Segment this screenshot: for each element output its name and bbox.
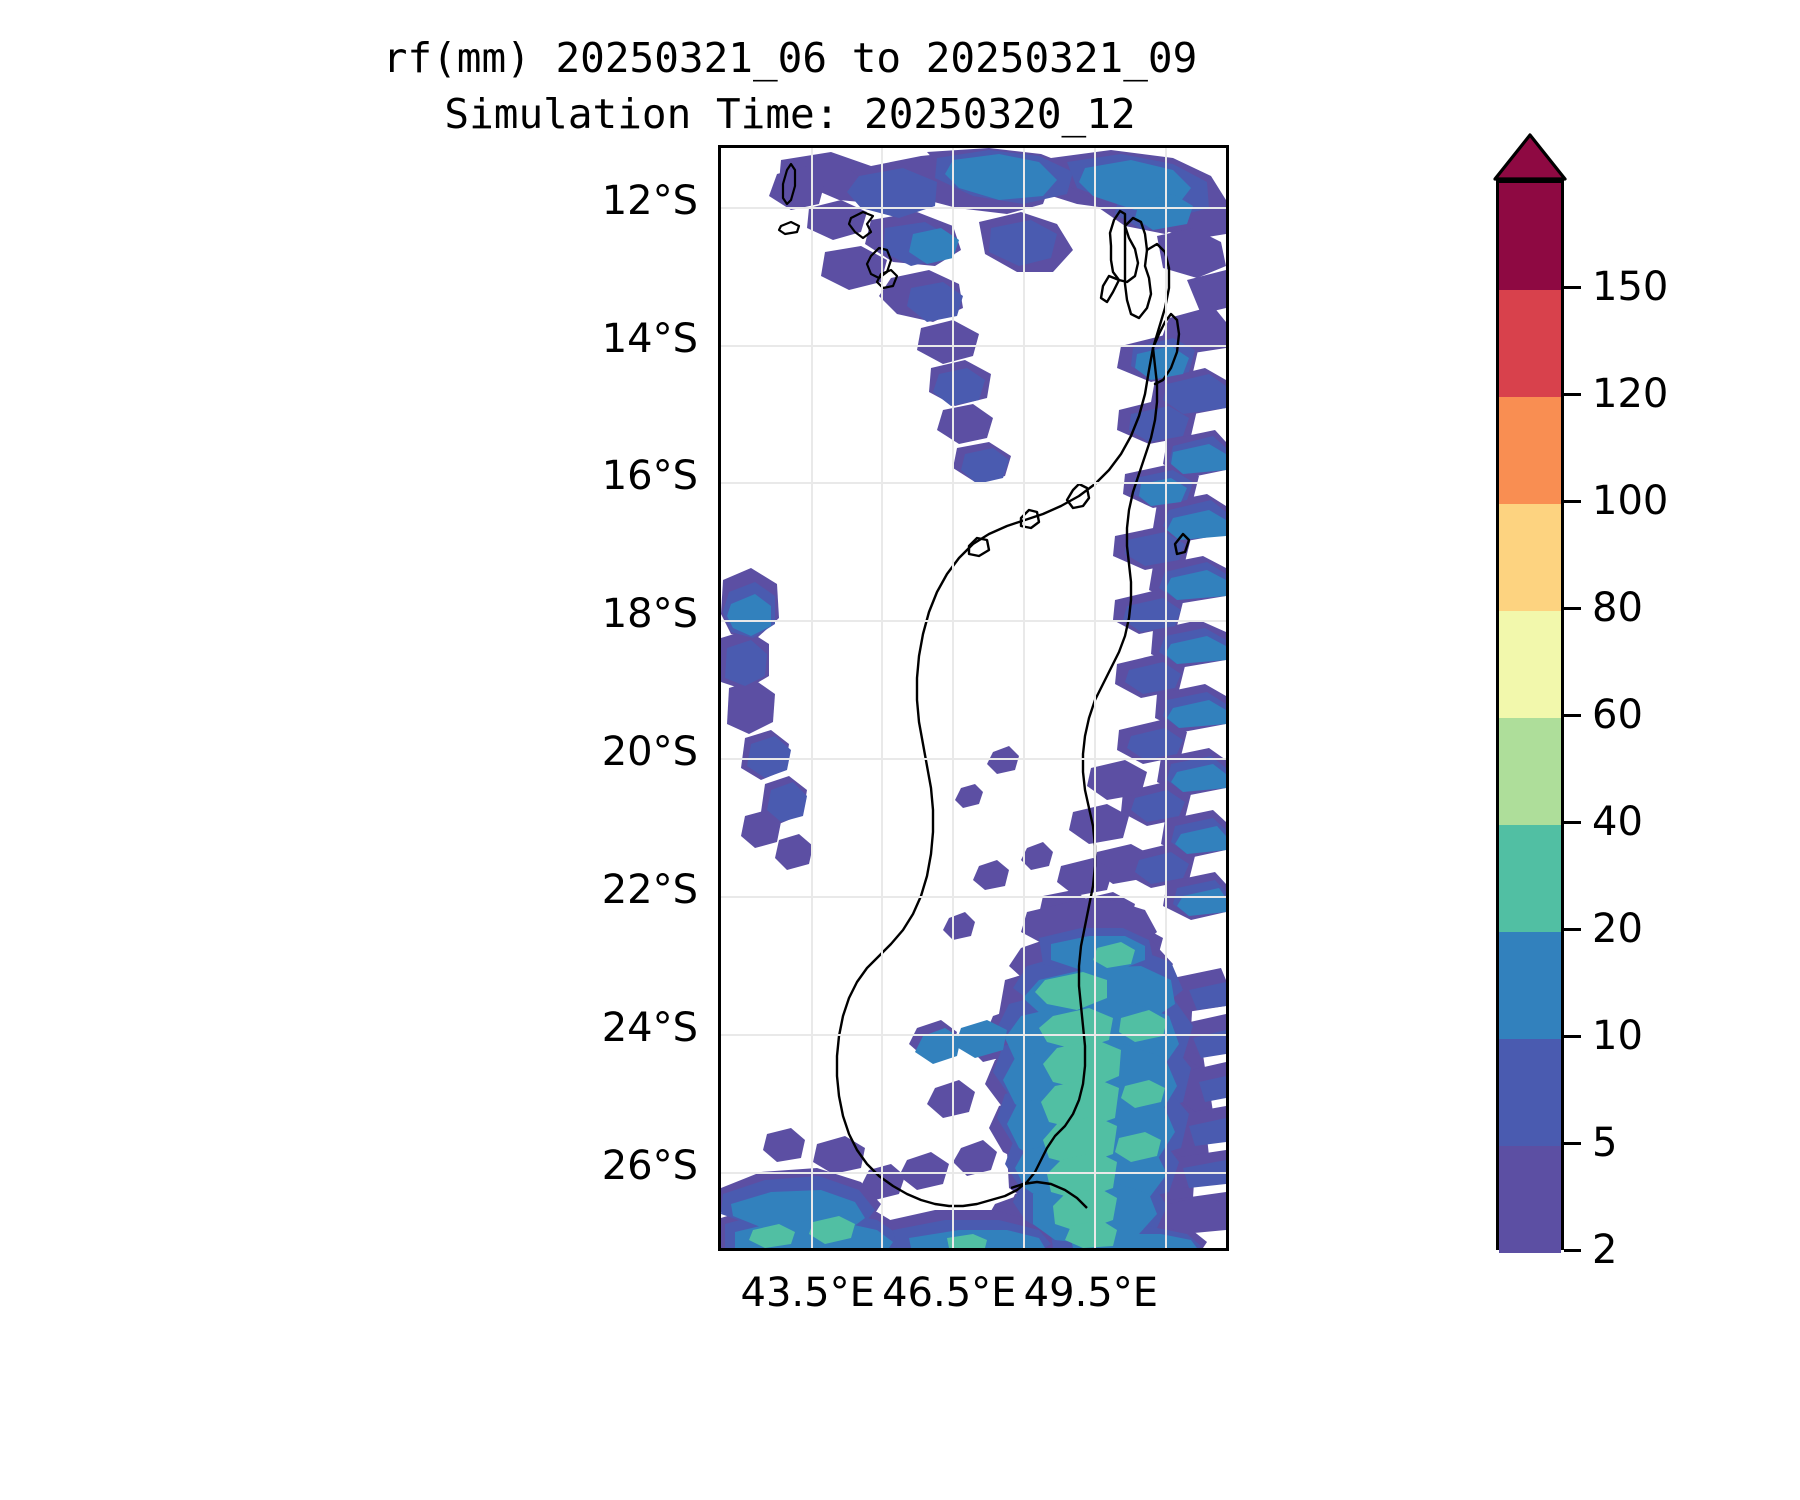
- y-axis-tick-label-2: 16°S: [508, 453, 698, 499]
- colorbar-tick-4: [1564, 821, 1581, 824]
- colorbar-tick-6: [1564, 607, 1581, 610]
- gridline-horizontal: [721, 896, 1226, 898]
- colorbar-extend-arrow: [1493, 133, 1567, 181]
- y-axis-tick-label-5: 22°S: [508, 867, 698, 913]
- gridline-horizontal: [721, 1172, 1226, 1174]
- map-axes: [718, 145, 1229, 1251]
- colorbar-tick-label-4: 40: [1592, 799, 1643, 845]
- colorbar-tick-2: [1564, 1035, 1581, 1038]
- gridline-vertical: [1165, 148, 1167, 1248]
- colorbar-tick-0: [1564, 1249, 1581, 1252]
- colorbar-segment-8: [1499, 290, 1561, 397]
- chart-title: rf(mm) 20250321_06 to 20250321_09 Simula…: [0, 30, 1580, 142]
- y-axis-tick-label-4: 20°S: [508, 729, 698, 775]
- colorbar-tick-label-2: 10: [1592, 1013, 1643, 1059]
- colorbar-segment-2: [1499, 932, 1561, 1039]
- colorbar[interactable]: 251020406080100120150: [1496, 180, 1564, 1250]
- colorbar-segment-9: [1499, 183, 1561, 290]
- colorbar-tick-1: [1564, 1142, 1581, 1145]
- x-axis-tick-label-2: 49.5°E: [961, 1270, 1221, 1316]
- colorbar-tick-label-6: 80: [1592, 585, 1643, 631]
- colorbar-segment-4: [1499, 718, 1561, 825]
- colorbar-segment-1: [1499, 1039, 1561, 1146]
- y-axis-tick-label-0: 12°S: [508, 178, 698, 224]
- map-plot-area: [721, 148, 1226, 1248]
- colorbar-tick-label-1: 5: [1592, 1120, 1617, 1166]
- title-line-2: Simulation Time: 20250320_12: [0, 86, 1580, 142]
- colorbar-segment-5: [1499, 611, 1561, 718]
- colorbar-tick-label-3: 20: [1592, 906, 1643, 952]
- colorbar-tick-7: [1564, 500, 1581, 503]
- y-axis-tick-label-3: 18°S: [508, 591, 698, 637]
- colorbar-segment-0: [1499, 1146, 1561, 1253]
- colorbar-tick-label-8: 120: [1592, 371, 1668, 417]
- colorbar-tick-label-9: 150: [1592, 264, 1668, 310]
- colorbar-tick-5: [1564, 714, 1581, 717]
- y-axis-tick-label-1: 14°S: [508, 316, 698, 362]
- colorbar-tick-9: [1564, 286, 1581, 289]
- gridline-vertical: [1023, 148, 1025, 1248]
- colorbar-tick-label-5: 60: [1592, 692, 1643, 738]
- colorbar-body: [1496, 180, 1564, 1250]
- colorbar-tick-3: [1564, 928, 1581, 931]
- gridline-vertical: [952, 148, 954, 1248]
- colorbar-segment-6: [1499, 504, 1561, 611]
- colorbar-tick-label-0: 2: [1592, 1227, 1617, 1273]
- figure-canvas: rf(mm) 20250321_06 to 20250321_09 Simula…: [0, 0, 1800, 1500]
- colorbar-tick-8: [1564, 393, 1581, 396]
- y-axis-tick-label-6: 24°S: [508, 1005, 698, 1051]
- gridline-horizontal: [721, 758, 1226, 760]
- gridline-vertical: [1094, 148, 1096, 1248]
- gridline-horizontal: [721, 207, 1226, 209]
- y-axis-tick-label-7: 26°S: [508, 1143, 698, 1189]
- precipitation-contour-layer: [721, 148, 1226, 1248]
- gridline-vertical: [881, 148, 883, 1248]
- colorbar-segment-7: [1499, 397, 1561, 504]
- colorbar-segment-3: [1499, 825, 1561, 932]
- gridline-horizontal: [721, 1034, 1226, 1036]
- gridline-horizontal: [721, 482, 1226, 484]
- colorbar-tick-label-7: 100: [1592, 478, 1668, 524]
- title-line-1: rf(mm) 20250321_06 to 20250321_09: [0, 30, 1580, 86]
- gridline-horizontal: [721, 620, 1226, 622]
- gridline-vertical: [811, 148, 813, 1248]
- gridline-horizontal: [721, 345, 1226, 347]
